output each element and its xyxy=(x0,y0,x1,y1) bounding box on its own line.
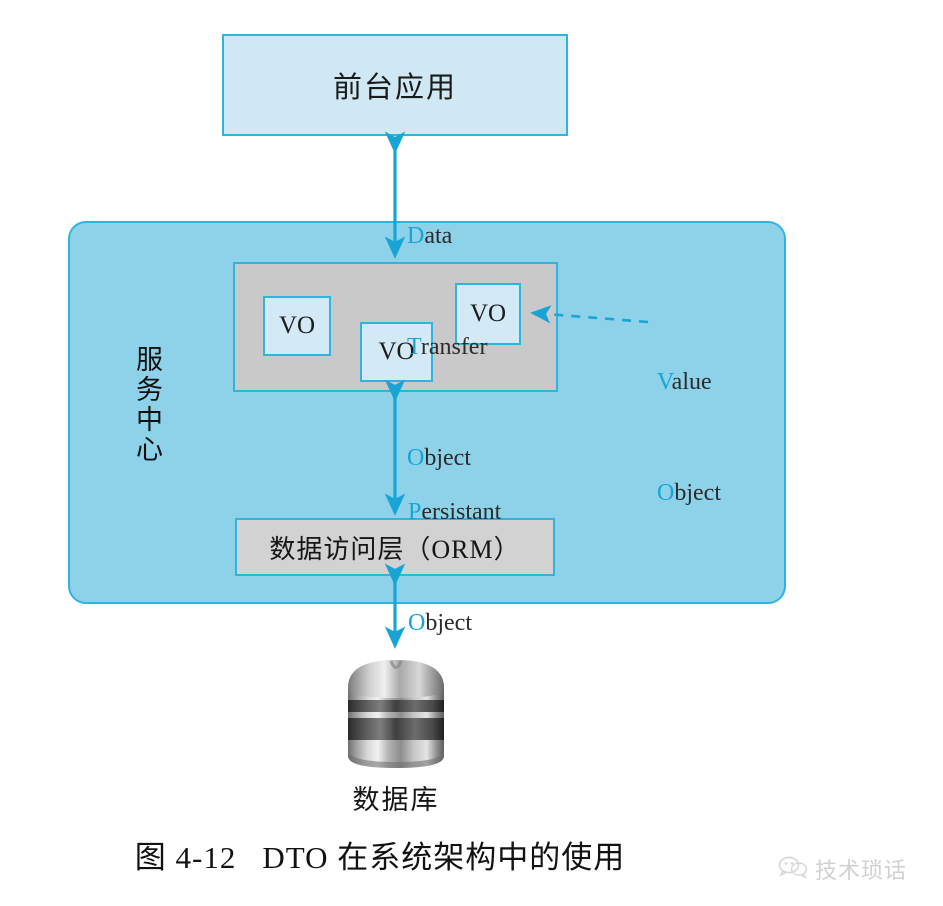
edge-label-vo-line1: Value xyxy=(657,364,721,401)
edge-label-dto-line1: Data xyxy=(407,218,487,255)
dto-line2-initial: T xyxy=(407,334,421,360)
edge-label-value-object: Value Object xyxy=(657,290,721,586)
edge-label-vo-line2: Object xyxy=(657,475,721,512)
node-data-access-layer: 数据访问层（ORM） xyxy=(235,518,555,576)
dto-line1-rest: ata xyxy=(424,223,452,249)
edge-label-po-line2: Object xyxy=(408,605,501,642)
figure-caption-title: DTO 在系统架构中的使用 xyxy=(262,840,625,875)
edge-label-dto-line2: Transfer xyxy=(407,329,487,366)
watermark: 技术琐话 xyxy=(778,852,938,886)
po-line1-rest: ersistant xyxy=(421,499,501,525)
database-cylinder-icon xyxy=(338,652,454,774)
node-value-object-1: VO xyxy=(263,296,331,356)
dto-line1-initial: D xyxy=(407,223,424,249)
edge-label-po-line1: Persistant xyxy=(408,494,501,531)
figure-caption: 图 4-12DTO 在系统架构中的使用 xyxy=(0,832,760,877)
figure-caption-number: 图 4-12 xyxy=(135,840,237,875)
database-label: 数据库 xyxy=(330,778,462,817)
vo-line2-rest: bject xyxy=(674,480,721,506)
node-front-application: 前台应用 xyxy=(222,34,568,136)
po-line1-initial: P xyxy=(408,499,421,525)
wechat-logo-icon xyxy=(778,855,808,884)
dto-line2-rest: ransfer xyxy=(421,334,488,360)
po-line2-rest: bject xyxy=(425,610,472,636)
po-line2-initial: O xyxy=(408,610,425,636)
diagram-canvas: 前台应用 服务中心 VO VO VO 数据访问层（ORM） gray VO co… xyxy=(0,0,943,906)
vo-line2-initial: O xyxy=(657,480,674,506)
vo-line1-initial: V xyxy=(657,369,672,395)
service-center-label: 服务中心 xyxy=(124,345,164,465)
watermark-text: 技术琐话 xyxy=(815,853,907,885)
front-application-label: 前台应用 xyxy=(333,64,457,106)
vo-line1-rest: alue xyxy=(672,369,712,395)
